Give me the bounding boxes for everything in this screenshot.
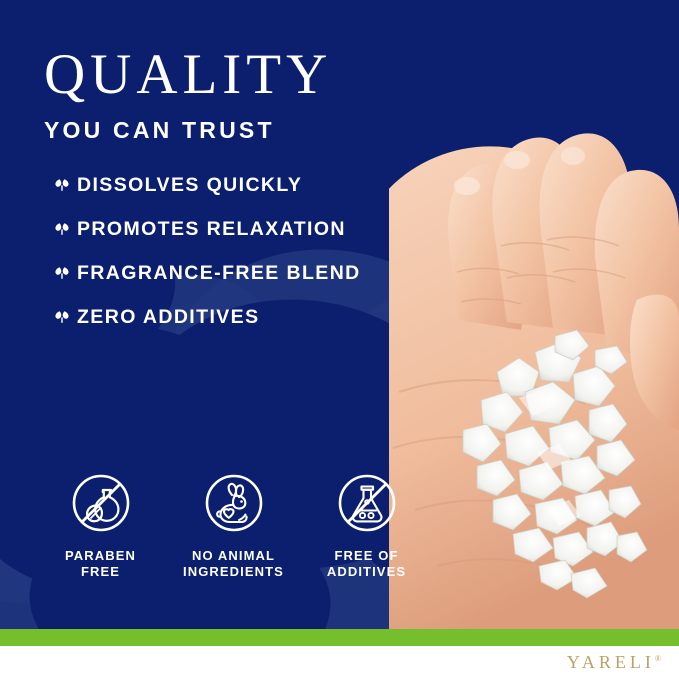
brand-name: YARELI xyxy=(567,652,655,672)
feature-label: ZERO ADDITIVES xyxy=(77,306,259,329)
trust-badge-row: PARABEN FREE xyxy=(34,472,434,581)
double-droplet-bullet-icon xyxy=(52,263,72,283)
feature-label: DISSOLVES QUICKLY xyxy=(77,174,302,197)
feature-item: ZERO ADDITIVES xyxy=(52,295,382,339)
no-additives-erlenmeyer-flask-icon xyxy=(336,472,398,539)
green-accent-bar xyxy=(0,629,679,646)
feature-label: FRAGRANCE-FREE BLEND xyxy=(77,262,361,285)
brand-logo: YARELI® xyxy=(567,652,661,673)
double-droplet-bullet-icon xyxy=(52,175,72,195)
headline-main: QUALITY xyxy=(44,46,332,103)
badge-label: FREE OF ADDITIVES xyxy=(327,548,406,581)
product-infographic: QUALITY YOU CAN TRUST DISSOLVES QUICKLY xyxy=(0,0,679,679)
feature-list: DISSOLVES QUICKLY PROMOTES RELAXATION xyxy=(52,163,382,339)
headline-block: QUALITY YOU CAN TRUST xyxy=(44,46,332,144)
badge-free-of-additives: FREE OF ADDITIVES xyxy=(300,472,433,581)
badge-paraben-free: PARABEN FREE xyxy=(34,472,167,581)
headline-sub: YOU CAN TRUST xyxy=(44,117,332,144)
trademark-symbol: ® xyxy=(655,654,661,663)
feature-item: PROMOTES RELAXATION xyxy=(52,207,382,251)
feature-item: DISSOLVES QUICKLY xyxy=(52,163,382,207)
badge-label: PARABEN FREE xyxy=(65,548,136,581)
feature-label: PROMOTES RELAXATION xyxy=(77,218,346,241)
badge-no-animal-ingredients: NO ANIMAL INGREDIENTS xyxy=(167,472,300,581)
navy-background-panel: QUALITY YOU CAN TRUST DISSOLVES QUICKLY xyxy=(0,0,679,629)
double-droplet-bullet-icon xyxy=(52,219,72,239)
feature-item: FRAGRANCE-FREE BLEND xyxy=(52,251,382,295)
double-droplet-bullet-icon xyxy=(52,307,72,327)
footer-bar: YARELI® xyxy=(0,646,679,679)
badge-label: NO ANIMAL INGREDIENTS xyxy=(183,548,284,581)
no-paraben-flask-leaf-icon xyxy=(70,472,132,539)
rabbit-heart-cruelty-free-icon xyxy=(203,472,265,539)
